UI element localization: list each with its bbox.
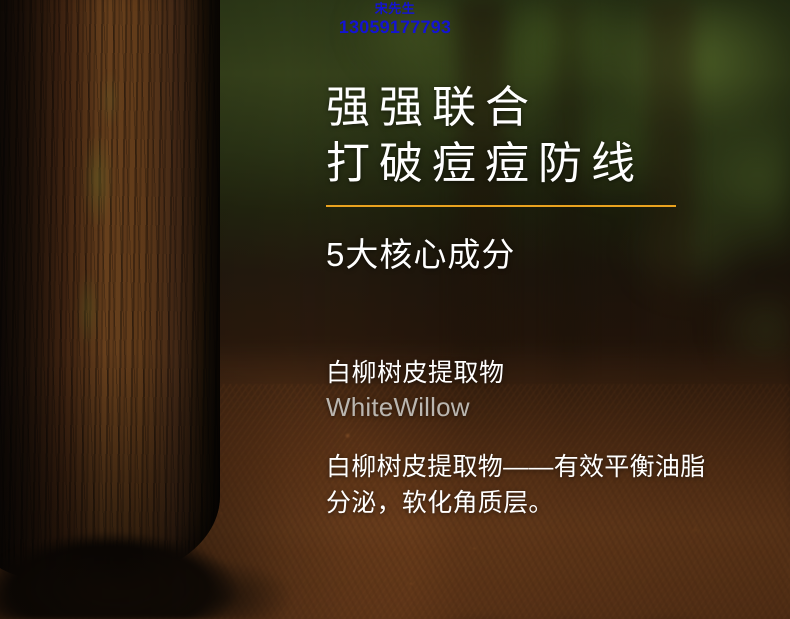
ingredient-block: 白柳树皮提取物 WhiteWillow [326,358,766,423]
ingredient-name-cn: 白柳树皮提取物 [326,358,766,389]
ingredient-description: 白柳树皮提取物——有效平衡油脂分泌，软化角质层。 [326,450,726,521]
copy-block: 强强联合 打破痘痘防线 5大核心成分 白柳树皮提取物 WhiteWillow 白… [326,0,770,619]
ingredient-name-en: WhiteWillow [326,393,766,423]
subtitle: 5大核心成分 [326,228,515,276]
headline-line-2: 打破痘痘防线 [326,136,644,192]
headline: 强强联合 打破痘痘防线 [326,80,644,193]
headline-line-1: 强强联合 [326,80,644,136]
accent-divider [326,205,676,207]
promo-banner: 宋先生 13059177793 强强联合 打破痘痘防线 5大核心成分 白柳树皮提… [0,0,790,619]
